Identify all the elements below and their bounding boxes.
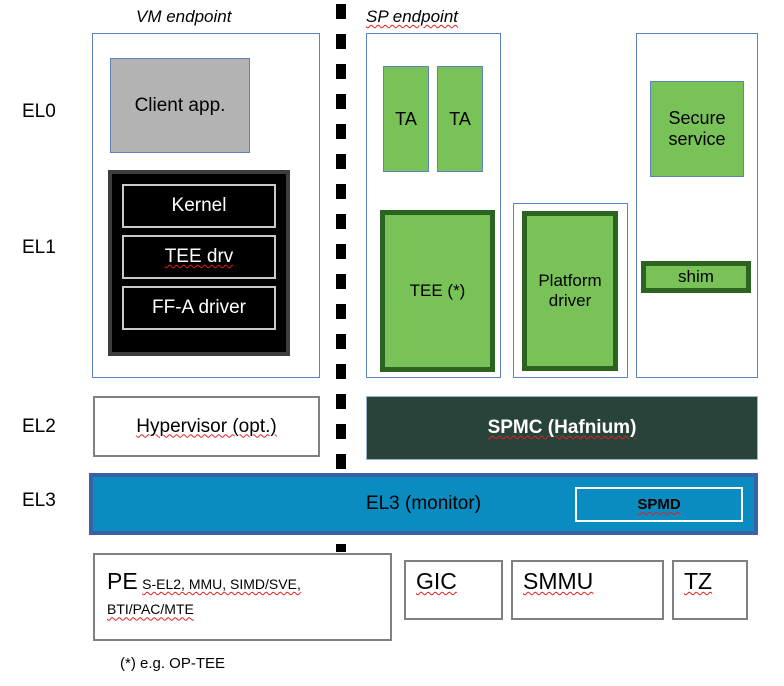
hypervisor-box[interactable]: Hypervisor (opt.) bbox=[93, 396, 320, 457]
vm-endpoint-title: VM endpoint bbox=[136, 7, 231, 27]
el-label-el3: EL3 bbox=[22, 490, 56, 512]
smmu-box[interactable]: SMMU bbox=[511, 560, 664, 620]
secure-service-box[interactable]: Secure service bbox=[650, 81, 744, 177]
pe-features-line1: S-EL2, MMU, SIMD/SVE, bbox=[142, 576, 301, 592]
diagram-canvas: VM endpoint SP endpoint EL0 EL1 EL2 EL3 … bbox=[0, 0, 784, 686]
el-label-el0: EL0 bbox=[22, 101, 56, 123]
secure-world-divider bbox=[336, 4, 346, 552]
sp-endpoint-title: SP endpoint bbox=[366, 7, 458, 27]
ffa-driver-box[interactable]: FF-A driver bbox=[122, 286, 276, 330]
tz-box[interactable]: TZ bbox=[672, 560, 748, 620]
client-app-box[interactable]: Client app. bbox=[110, 58, 250, 153]
gic-box[interactable]: GIC bbox=[404, 560, 503, 620]
pe-features-line2: BTI/PAC/MTE bbox=[107, 601, 194, 617]
footnote: (*) e.g. OP-TEE bbox=[120, 655, 225, 672]
el-label-el1: EL1 bbox=[22, 237, 56, 259]
shim-box[interactable]: shim bbox=[641, 261, 751, 293]
kernel-stack-box: Kernel TEE drv FF-A driver bbox=[108, 170, 290, 356]
el-label-el2: EL2 bbox=[22, 416, 56, 438]
spmd-box[interactable]: SPMD bbox=[575, 487, 743, 522]
el3-monitor-bar[interactable]: EL3 (monitor) SPMD bbox=[89, 473, 758, 535]
pe-label: PE bbox=[107, 568, 138, 594]
tee-driver-box[interactable]: TEE drv bbox=[122, 235, 276, 279]
spmc-box[interactable]: SPMC (Hafnium) bbox=[366, 396, 758, 460]
platform-driver-box[interactable]: Platform driver bbox=[522, 211, 618, 371]
ta-box-right[interactable]: TA bbox=[437, 66, 483, 172]
tee-box[interactable]: TEE (*) bbox=[380, 210, 495, 372]
ta-box-left[interactable]: TA bbox=[383, 66, 429, 172]
kernel-box[interactable]: Kernel bbox=[122, 184, 276, 228]
pe-box[interactable]: PE S-EL2, MMU, SIMD/SVE, BTI/PAC/MTE bbox=[93, 553, 392, 641]
